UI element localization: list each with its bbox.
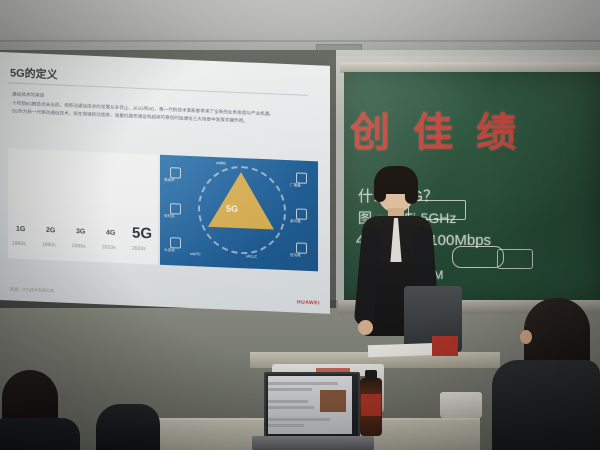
classroom-photo: 创 佳 绩 什么是5G？ 图 = WiFi-5GHz 4G ——— 100Mbp… bbox=[0, 0, 600, 450]
timeline-gen-4g: 4G bbox=[106, 229, 115, 236]
diagram-side-label-2: 低时延 bbox=[164, 214, 175, 219]
presenter-hair-left bbox=[374, 176, 386, 202]
timeline-year-3g: 2000s bbox=[72, 243, 86, 250]
projected-slide: 5G的定义 通信技术的演进 十年前5G概念尚未出现，但移动通信技术的发展从未停止… bbox=[0, 52, 330, 314]
timeline-year-4g: 2010s bbox=[102, 244, 116, 251]
slide-title: 5G的定义 bbox=[10, 64, 58, 82]
bottle-cap bbox=[365, 370, 377, 380]
power-icon bbox=[296, 242, 307, 253]
timeline-year-1g: 1980s bbox=[12, 241, 26, 248]
diagram-pyramid bbox=[208, 171, 274, 230]
student-right-body bbox=[492, 360, 600, 450]
timeline-gen-1g: 1G bbox=[16, 226, 25, 233]
ceiling bbox=[0, 0, 600, 56]
chalkboard-headline: 创 佳 绩 bbox=[350, 100, 522, 158]
timeline-gen-5g: 5G bbox=[132, 225, 152, 243]
timeline-year-2g: 1990s bbox=[42, 242, 56, 249]
red-box bbox=[432, 336, 458, 356]
diagram-side-label-3: 大连接 bbox=[164, 248, 175, 253]
connections-icon bbox=[170, 237, 181, 248]
speed-icon bbox=[170, 167, 181, 178]
slide-5g-diagram: 5G 高速率 低时延 大连接 广覆盖 高可靠 低功耗 eMBB mMTC uRL… bbox=[160, 155, 318, 272]
slide-timeline: 1G 1980s 2G 1990s 3G 2000s 4G 2010s 5G 2… bbox=[8, 148, 158, 264]
coverage-icon bbox=[296, 172, 307, 183]
chalkboard-box-3 bbox=[497, 249, 533, 269]
slide-footnote: 来源：华为技术有限公司 bbox=[10, 286, 54, 294]
latency-icon bbox=[170, 203, 181, 214]
bottle-label bbox=[361, 394, 381, 416]
timeline-year-5g: 2020s bbox=[132, 246, 146, 253]
student-center-body bbox=[96, 404, 160, 450]
laptop-display-content bbox=[268, 376, 352, 434]
laptop-thumbnail bbox=[320, 390, 346, 412]
huawei-logo: HUAWEI bbox=[297, 299, 320, 306]
laptop-keyboard bbox=[252, 436, 374, 450]
diagram-corner-label-2: mMTC bbox=[190, 252, 201, 256]
presenter-hand bbox=[358, 320, 373, 335]
diagram-side-label-5: 高可靠 bbox=[290, 219, 301, 224]
student-left-body bbox=[0, 418, 80, 450]
tissue-box bbox=[440, 392, 482, 418]
ceiling-seam bbox=[0, 40, 600, 42]
timeline-gen-2g: 2G bbox=[46, 227, 55, 234]
diagram-side-label-4: 广覆盖 bbox=[290, 183, 301, 188]
presenter-hair-right bbox=[405, 176, 418, 204]
slide-figure: 1G 1980s 2G 1990s 3G 2000s 4G 2010s 5G 2… bbox=[8, 148, 318, 271]
diagram-center-label: 5G bbox=[226, 203, 238, 214]
diagram-side-label-6: 低功耗 bbox=[290, 253, 301, 258]
diagram-side-label-1: 高速率 bbox=[164, 178, 175, 183]
diagram-corner-label-3: uRLLC bbox=[246, 254, 257, 258]
student-right-ear bbox=[520, 330, 532, 344]
timeline-gen-3g: 3G bbox=[76, 228, 85, 235]
diagram-corner-label-1: eMBB bbox=[216, 161, 226, 165]
reliability-icon bbox=[296, 208, 307, 219]
